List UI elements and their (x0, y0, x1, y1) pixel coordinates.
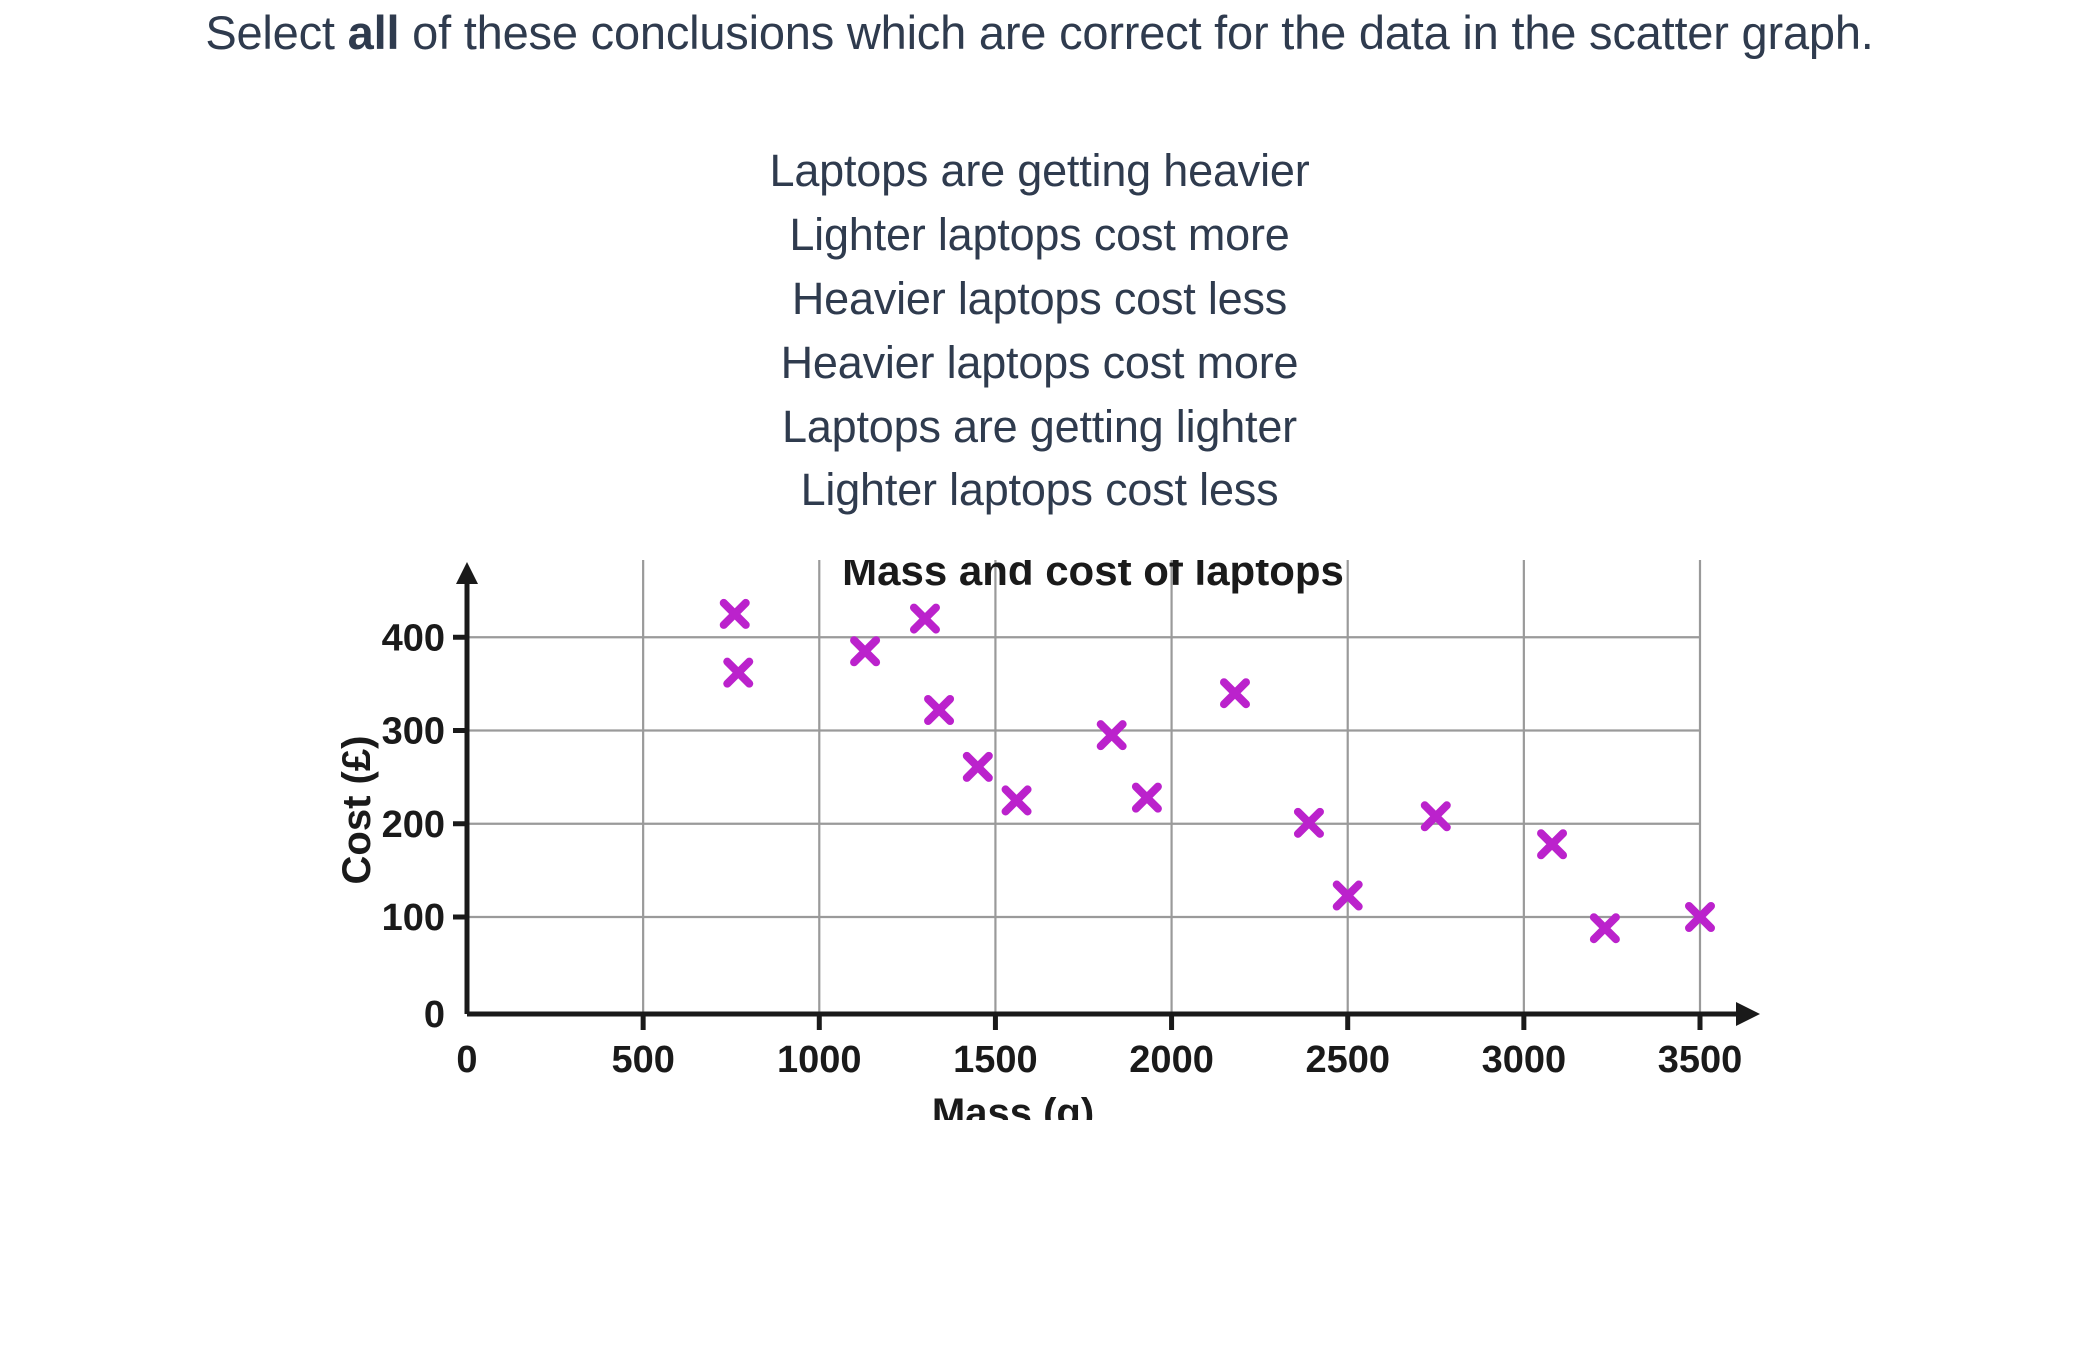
y-tick-label: 400 (382, 618, 445, 660)
question-heading-suffix: of these conclusions which are correct f… (399, 6, 1873, 59)
data-point-marker (727, 662, 749, 684)
x-axis-ticks: 0500100015002000250030003500 (456, 1014, 1742, 1081)
x-tick-label: 3000 (1482, 1039, 1567, 1081)
x-tick-label: 1500 (953, 1039, 1038, 1081)
data-point-marker (1006, 790, 1028, 812)
x-tick-label: 0 (456, 1039, 477, 1081)
y-tick-label: 500 (382, 560, 445, 566)
chart-axes (456, 562, 1760, 1026)
option-laptops-getting-lighter[interactable]: Laptops are getting lighter (0, 395, 2079, 459)
data-point-marker (928, 699, 950, 721)
y-tick-label: 100 (382, 897, 445, 939)
x-axis-label: Mass (g) (932, 1091, 1094, 1120)
option-lighter-laptops-cost-more[interactable]: Lighter laptops cost more (0, 203, 2079, 267)
x-axis-arrow-icon (1736, 1002, 1760, 1026)
data-point-marker (1101, 724, 1123, 746)
y-axis-label: Cost (£) (335, 736, 379, 885)
option-heavier-laptops-cost-less[interactable]: Heavier laptops cost less (0, 267, 2079, 331)
question-block: Select all of these conclusions which ar… (0, 0, 2079, 522)
scatter-chart: 0100200300400500050010001500200025003000… (0, 560, 2079, 1120)
x-tick-label: 3500 (1658, 1039, 1743, 1081)
question-heading-prefix: Select (205, 6, 347, 59)
chart-title: Mass and cost of laptops (842, 560, 1344, 594)
chart-gridlines (467, 560, 1700, 1014)
x-tick-label: 2000 (1129, 1039, 1214, 1081)
y-tick-label: 200 (382, 804, 445, 846)
data-point-marker (914, 608, 936, 630)
x-tick-label: 1000 (777, 1039, 862, 1081)
y-tick-label: 0 (424, 994, 445, 1036)
option-laptops-getting-heavier[interactable]: Laptops are getting heavier (0, 139, 2079, 203)
data-point-marker (1136, 787, 1158, 809)
y-axis-arrow-icon (456, 562, 478, 584)
data-point-marker (854, 641, 876, 663)
x-tick-label: 500 (611, 1039, 674, 1081)
data-point-marker (724, 603, 746, 625)
question-heading-emphasis: all (348, 6, 400, 59)
y-axis-ticks: 0100200300400500 (382, 560, 467, 1036)
page-title: Select all of these conclusions which ar… (0, 6, 2079, 61)
data-point-marker (967, 756, 989, 778)
conclusion-options-list: Laptops are getting heavier Lighter lapt… (0, 139, 2079, 522)
x-tick-label: 2500 (1305, 1039, 1390, 1081)
option-heavier-laptops-cost-more[interactable]: Heavier laptops cost more (0, 331, 2079, 395)
y-tick-label: 300 (382, 711, 445, 753)
data-point-marker (1224, 683, 1246, 705)
data-point-marker (1594, 918, 1616, 940)
option-lighter-laptops-cost-less[interactable]: Lighter laptops cost less (0, 458, 2079, 522)
scatter-chart-svg: 0100200300400500050010001500200025003000… (0, 560, 2079, 1120)
data-point-marker (1541, 834, 1563, 856)
